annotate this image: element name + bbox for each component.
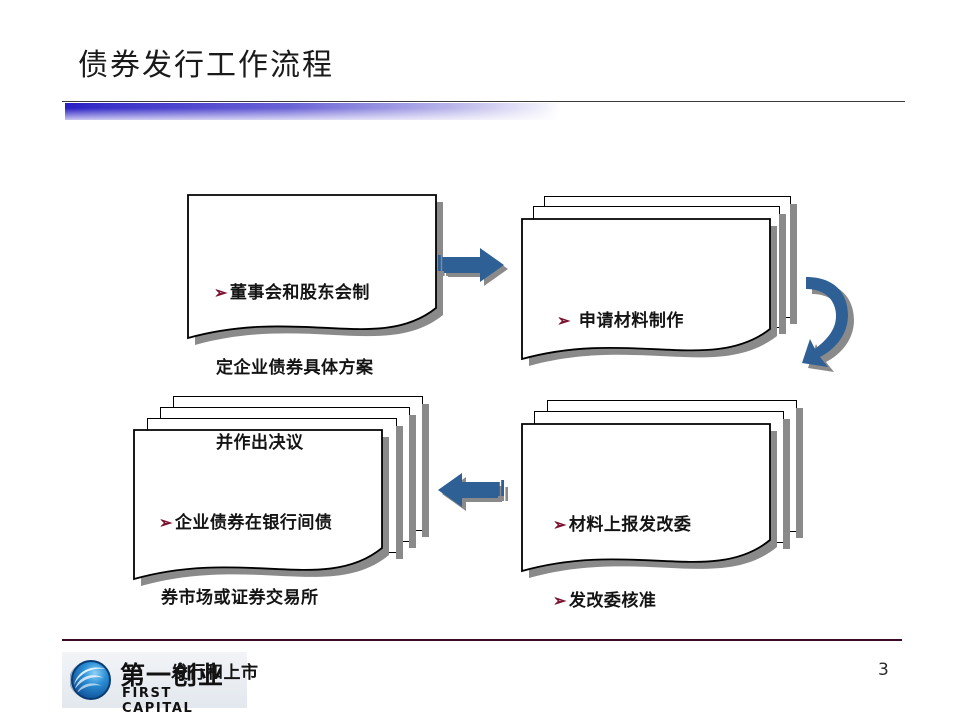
page-number: 3 (878, 660, 889, 680)
bullet-arrow-icon: ➢ (557, 311, 571, 330)
curved-arrow-down-icon (802, 277, 848, 367)
arrow-right-top[interactable] (437, 243, 515, 295)
box-line: 并作出决议 (214, 406, 374, 456)
box-line-text: 定企业债券具体方案 (216, 358, 374, 378)
box-line-text: 董事会和股东会制 (230, 283, 370, 303)
box-line: 券市场或证券交易所 (159, 561, 332, 611)
bullet-arrow-icon: ➢ (553, 515, 567, 534)
box-board-resolution[interactable]: ➢董事会和股东会制 定企业债券具体方案 并作出决议 (187, 194, 435, 344)
box-text: ➢董事会和股东会制 定企业债券具体方案 并作出决议 (214, 230, 374, 481)
page-title: 债券发行工作流程 (78, 40, 334, 84)
box-line: ➢申请材料制作 (557, 283, 684, 334)
box-line: 定企业债券具体方案 (214, 331, 374, 381)
globe-icon (70, 659, 112, 701)
box-ndrc-approval[interactable]: ➢材料上报发改委 ➢发改委核准 (521, 400, 811, 580)
box-text: ➢企业债券在银行间债 券市场或证券交易所 发行和上市 (159, 460, 332, 711)
bullet-arrow-icon: ➢ (159, 513, 173, 532)
box-line: 发行和上市 (159, 636, 332, 686)
bullet-arrow-icon: ➢ (553, 591, 567, 610)
slide-canvas: 债券发行工作流程 ➢董事会和股东会制 定企业债券具体方案 并作出决议 (0, 0, 960, 720)
box-line-text: 企业债券在银行间债 (175, 513, 333, 533)
box-application-materials[interactable]: ➢申请材料制作 (521, 196, 791, 358)
box-line: ➢材料上报发改委 (553, 487, 691, 538)
arrow-left-bottom[interactable] (437, 468, 515, 520)
layer-shadow (422, 404, 429, 537)
box-line-text: 材料上报发改委 (569, 515, 692, 535)
arrow-curve-down[interactable] (797, 270, 863, 378)
box-line-text: 并作出决议 (216, 433, 304, 453)
title-gradient-band (65, 103, 560, 120)
box-line-text: 券市场或证券交易所 (161, 588, 319, 608)
box-text: ➢材料上报发改委 ➢发改委核准 (553, 462, 691, 639)
box-line-text: 发行和上市 (171, 663, 259, 683)
box-line: ➢发改委核准 (553, 563, 691, 614)
box-line: ➢企业债券在银行间债 (159, 485, 332, 536)
box-line-text: 发改委核准 (569, 591, 657, 611)
box-line-text: 申请材料制作 (579, 311, 684, 331)
box-line: ➢董事会和股东会制 (214, 255, 374, 306)
box-text: ➢申请材料制作 (557, 258, 684, 359)
title-rule (62, 101, 905, 102)
bullet-arrow-icon: ➢ (214, 283, 228, 302)
